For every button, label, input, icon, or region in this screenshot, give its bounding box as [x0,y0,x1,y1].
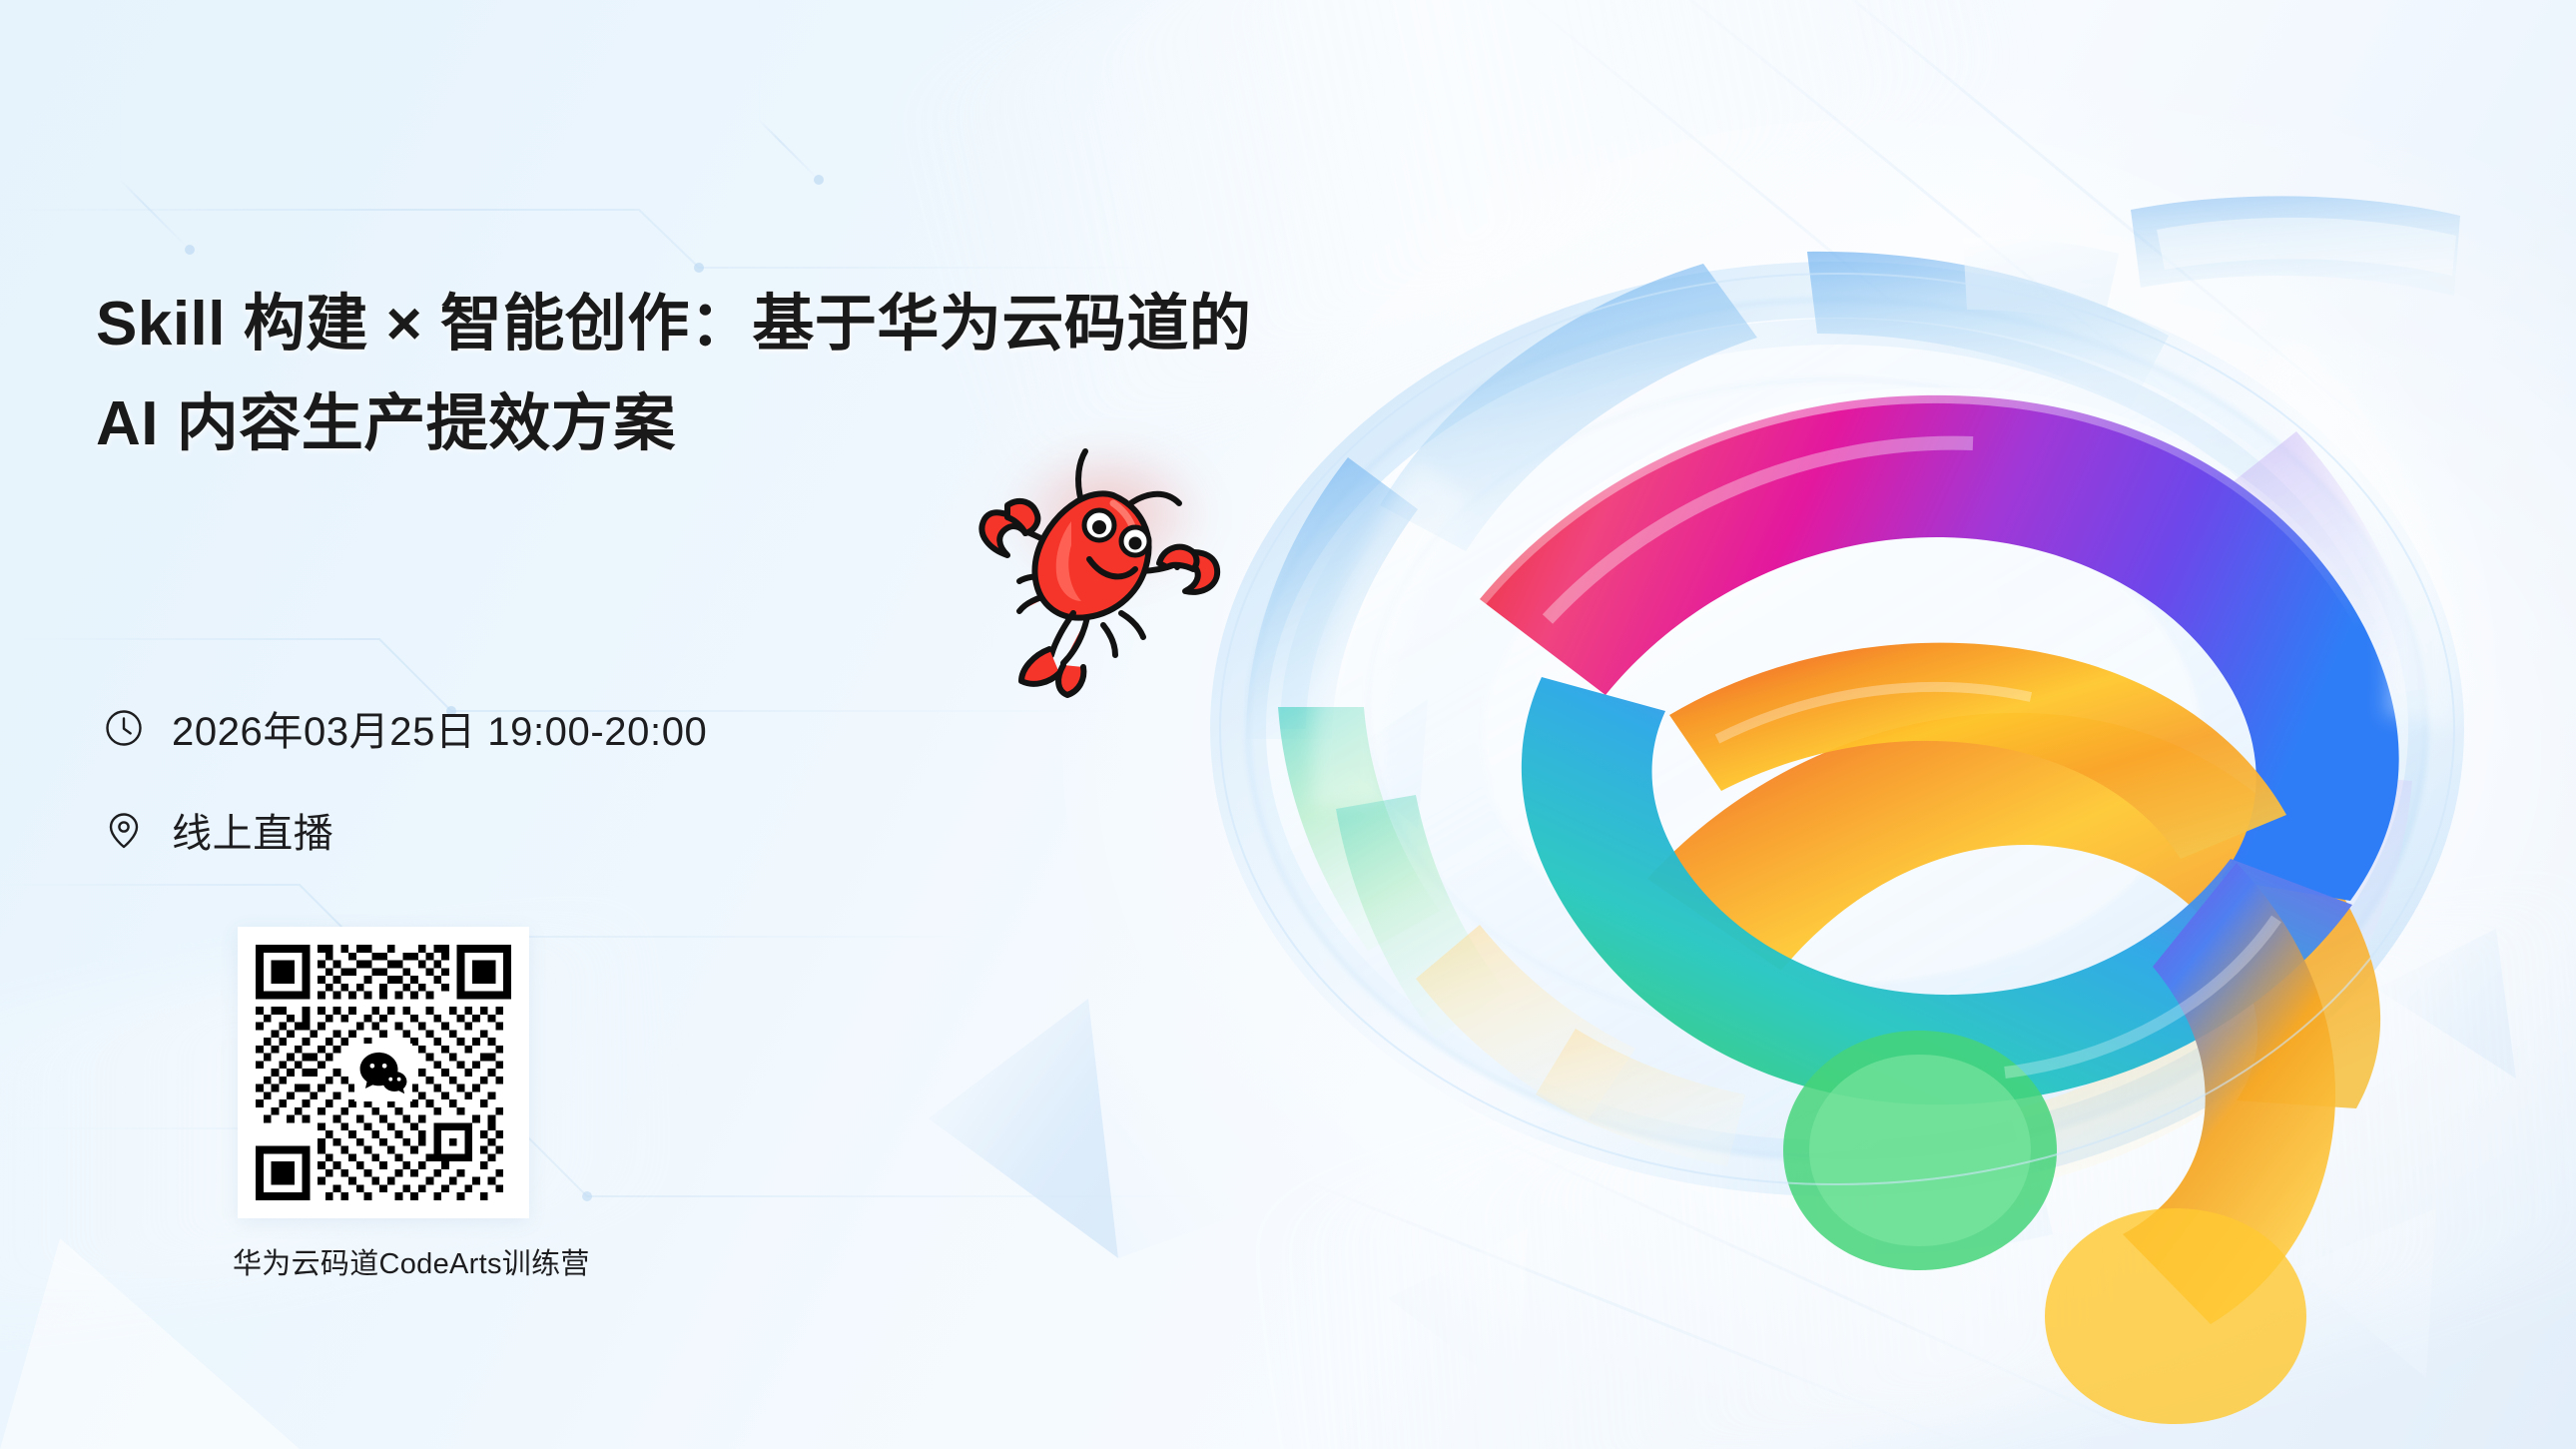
lobster-sticker [964,429,1233,699]
wechat-chat-bubble-icon [354,1044,412,1101]
event-promo-banner: Skill 构建 × 智能创作：基于华为云码道的 AI 内容生产提效方案 202… [0,0,2576,1449]
event-datetime-text: 2026年03月25日 19:00-20:00 [172,699,707,757]
qr-block: 华为云码道CodeArts训练营 [238,927,529,1282]
title-line-1: Skill 构建 × 智能创作：基于华为云码道的 [96,278,1214,371]
event-meta: 2026年03月25日 19:00-20:00 线上直播 [102,699,707,903]
qr-caption: 华为云码道CodeArts训练营 [233,1240,524,1282]
qr-code[interactable] [238,927,529,1218]
clock-icon [102,706,146,750]
event-location-row: 线上直播 [102,801,707,859]
banner-content: Skill 构建 × 智能创作：基于华为云码道的 AI 内容生产提效方案 202… [96,0,1274,1449]
event-datetime-row: 2026年03月25日 19:00-20:00 [102,699,707,757]
light-sweep-bottom [1223,875,2576,1449]
codearts-3d-artwork [1118,40,2576,1438]
location-pin-icon [102,808,146,852]
event-location-text: 线上直播 [172,801,333,859]
